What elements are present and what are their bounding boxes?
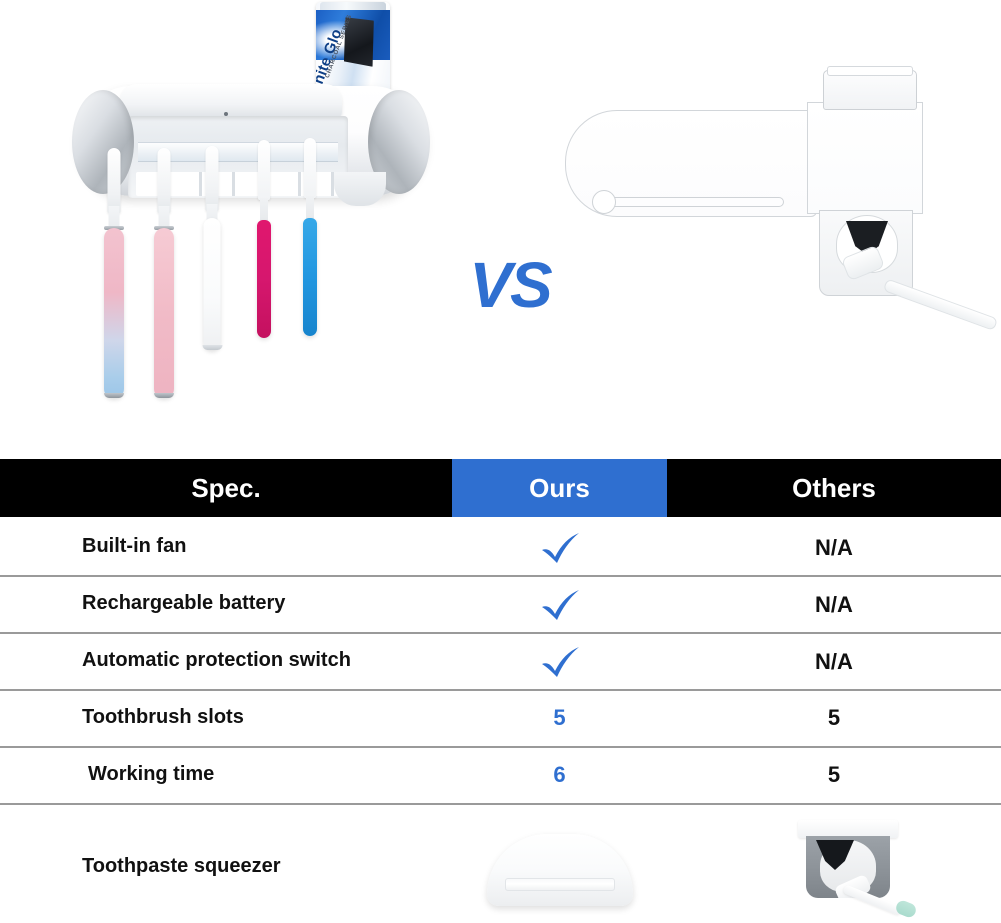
brush-head: [206, 146, 219, 212]
row-value-ours: 5: [452, 705, 667, 731]
brush-head: [258, 140, 270, 200]
table-row: Built-in fan N/A: [0, 517, 1001, 577]
check-mark-icon: [538, 645, 582, 679]
row-value-ours: [452, 531, 667, 565]
table-row: Rechargeable battery N/A: [0, 575, 1001, 634]
table-row: Toothbrush slots 5 5: [0, 689, 1001, 748]
competitor-knob-top: [827, 66, 913, 76]
brush-foot: [154, 393, 174, 398]
sanitizer-lid: [120, 84, 342, 118]
others-squeezer-image: [792, 820, 904, 916]
brush-handle: [104, 228, 124, 398]
row-value-others: N/A: [667, 535, 1001, 561]
brush-head: [108, 148, 121, 214]
row-value-others: N/A: [667, 649, 1001, 675]
end-cap-left: [72, 90, 134, 194]
squeezer-slot: [505, 878, 615, 891]
competitor-body: [807, 102, 923, 214]
paste-nozzle: [334, 172, 386, 206]
column-header-spec: Spec.: [0, 459, 452, 517]
competitor-arm: [565, 110, 817, 217]
row-label: Automatic protection switch: [82, 649, 351, 672]
vs-label: VS: [455, 248, 565, 322]
row-value-ours: 6: [452, 762, 667, 788]
table-row: Automatic protection switch N/A: [0, 632, 1001, 691]
row-value-ours: [452, 588, 667, 622]
row-value-others: N/A: [667, 592, 1001, 618]
row-value-others: 5: [667, 762, 1001, 788]
brush-handle: [204, 218, 221, 350]
competitor-brush-handle: [883, 278, 998, 331]
ours-product-image: hite Glo CHARCOAL SERIES: [72, 0, 432, 450]
row-value-ours: [452, 645, 667, 679]
competitor-arm-eye: [592, 190, 616, 214]
product-comparison-hero: hite Glo CHARCOAL SERIES: [0, 0, 1001, 455]
row-label: Toothpaste squeezer: [82, 855, 281, 878]
row-label: Built-in fan: [82, 535, 186, 558]
brush-foot: [104, 393, 124, 398]
status-led-icon: [224, 112, 228, 116]
brush-head: [158, 148, 171, 214]
brush-head: [304, 138, 316, 198]
competitor-arm-slot: [602, 197, 784, 207]
brush-foot: [202, 345, 222, 350]
table-row: Working time 6 5: [0, 746, 1001, 805]
brush-handle: [154, 228, 174, 398]
row-label: Rechargeable battery: [82, 592, 285, 615]
brush-handle: [257, 220, 271, 338]
table-header-row: Spec. Ours Others: [0, 459, 1001, 517]
check-mark-icon: [538, 588, 582, 622]
row-label: Working time: [88, 763, 214, 786]
others-product-image: [555, 70, 1001, 370]
column-header-ours: Ours: [452, 459, 667, 517]
row-value-others: 5: [667, 705, 1001, 731]
column-header-others: Others: [667, 459, 1001, 517]
brush-handle: [303, 218, 317, 336]
competitor-knob: [823, 70, 917, 110]
row-label: Toothbrush slots: [82, 706, 244, 729]
check-mark-icon: [538, 531, 582, 565]
